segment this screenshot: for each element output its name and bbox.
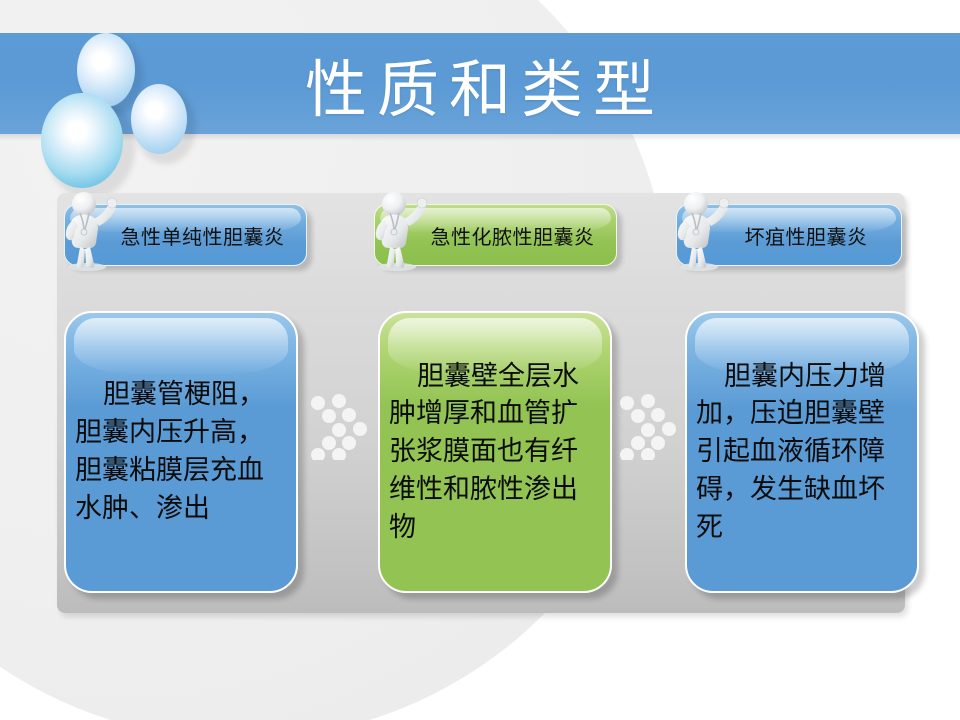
doctor-figure-icon xyxy=(673,187,735,271)
bubble-medium xyxy=(127,78,188,154)
content-box-acute-suppurative[interactable]: 胆囊壁全层水肿增厚和血管扩张浆膜面也有纤维性和脓性渗出物 xyxy=(378,311,612,593)
label-pill-acute-suppurative-cholecystitis[interactable]: 急性化脓性胆囊炎 xyxy=(374,204,617,266)
dotted-arrow-right-icon xyxy=(616,388,688,460)
content-box-text: 胆囊内压力增加，压迫胆囊壁引起血液循环障碍，发生缺血坏死 xyxy=(687,358,917,547)
content-box-text: 胆囊管梗阻，胆囊内压升高，胆囊粘膜层充血水肿、渗出 xyxy=(66,376,296,527)
bubble-large xyxy=(36,85,125,188)
slide-canvas: 性质和类型 xyxy=(0,0,960,720)
label-pill-acute-simple-cholecystitis[interactable]: 急性单纯性胆囊炎 xyxy=(64,204,307,266)
content-box-gangrenous[interactable]: 胆囊内压力增加，压迫胆囊壁引起血液循环障碍，发生缺血坏死 xyxy=(685,311,919,593)
content-box-text: 胆囊壁全层水肿增厚和血管扩张浆膜面也有纤维性和脓性渗出物 xyxy=(380,358,610,547)
content-box-acute-simple[interactable]: 胆囊管梗阻，胆囊内压升高，胆囊粘膜层充血水肿、渗出 xyxy=(64,311,298,593)
dotted-arrow-right-icon xyxy=(307,388,379,460)
doctor-figure-icon xyxy=(61,187,123,271)
label-pill-gangrenous-cholecystitis[interactable]: 坏疽性胆囊炎 xyxy=(676,204,902,266)
doctor-figure-icon xyxy=(371,187,433,271)
box-gloss-highlight xyxy=(74,318,288,374)
